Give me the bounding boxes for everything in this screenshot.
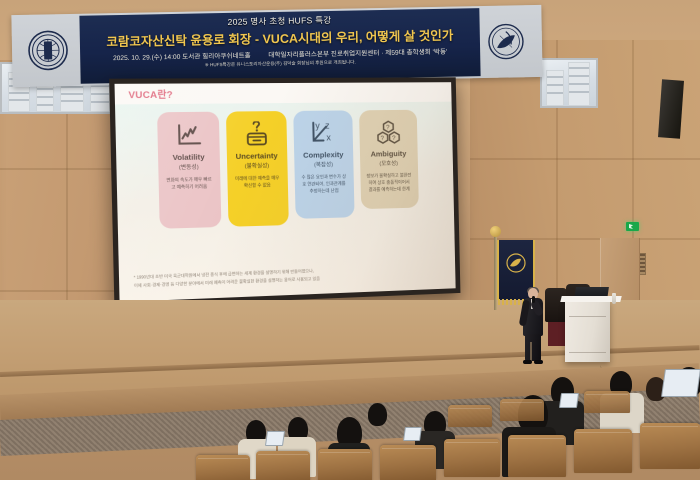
- flag-finial-icon: [490, 226, 501, 237]
- slide-title: VUCA란?: [128, 87, 173, 102]
- banner-line-3-right: 대학일자리플러스본부 진로취업지원센터 · 제59대 총학생회 '박동': [268, 49, 447, 59]
- banner-line-4: ※ HUFS특강은 유니스토리자산운용(주) 김덕술 회장님의 후원으로 개최됩…: [205, 59, 356, 68]
- ceiling-speaker-icon: [658, 79, 684, 138]
- svg-text:?: ?: [392, 135, 396, 142]
- card-title-ko: (변동성): [179, 163, 199, 172]
- audience-laptop: [403, 427, 422, 441]
- uncertainty-box-question-icon: [243, 119, 270, 150]
- audience-seat: [640, 423, 700, 469]
- lectern: [565, 300, 610, 362]
- water-bottle: [612, 293, 616, 304]
- audience-laptop: [559, 393, 579, 408]
- lecture-hall-photo: 2025 명사 초청 HUFS 특강 코람코자산신탁 윤용로 회장 - VUCA…: [0, 0, 700, 480]
- vuca-card-row: Volatility (변동성) 변화의 속도가 매우 빠르고 예측하기 어려움: [128, 110, 445, 230]
- svg-text:x: x: [326, 133, 331, 143]
- student-council-seal-icon: [484, 19, 529, 64]
- card-description: 정보가 불확실하고 불완전하여 상호 충돌적이어서 결과를 예측하는데 한계: [364, 173, 414, 194]
- audience-seat: [380, 445, 436, 480]
- audience-seat: [196, 455, 250, 480]
- audience-seat: [448, 405, 492, 427]
- slide-body: Volatility (변동성) 변화의 속도가 매우 빠르고 예측하기 어려움: [115, 102, 456, 302]
- svg-text:z: z: [325, 121, 330, 131]
- card-title-ko: (복잡성): [314, 161, 333, 169]
- banner-line-1: 2025 명사 초청 HUFS 특강: [227, 14, 331, 28]
- audience-seat: [574, 429, 632, 473]
- audience-seat: [500, 399, 544, 421]
- speaker-person: [520, 288, 546, 364]
- projection-screen: VUCA란? Volatility (변동성) 변화의 속도가 매우 빠르고: [109, 77, 460, 307]
- card-description: 변화의 속도가 매우 빠르고 예측하기 어려움: [162, 177, 216, 192]
- audience-laptop: [661, 369, 700, 397]
- hufs-seal-icon: [26, 28, 71, 73]
- vuca-card-complexity: y z x Complexity (복잡성) 수 많은 요인과 변수가 상호 연…: [293, 110, 354, 218]
- speaker-legs: [525, 334, 541, 361]
- event-banner: 2025 명사 초청 HUFS 특강 코람코자산신탁 윤용로 회장 - VUCA…: [11, 5, 542, 87]
- svg-text:?: ?: [380, 135, 384, 142]
- flag-emblem-icon: [505, 252, 527, 279]
- microphone-icon: [532, 296, 535, 303]
- vuca-card-ambiguity: ? ? ? Ambiguity (모호성) 정보가 불확실하고 불완전하여 상호…: [359, 110, 419, 209]
- audience-seat: [508, 435, 566, 477]
- window-right: [540, 58, 598, 108]
- card-title-en: Uncertainty: [236, 152, 278, 161]
- audience-seat: [318, 449, 372, 480]
- vuca-card-volatility: Volatility (변동성) 변화의 속도가 매우 빠르고 예측하기 어려움: [157, 112, 221, 229]
- card-title-en: Complexity: [303, 151, 343, 160]
- presentation-slide: VUCA란? Volatility (변동성) 변화의 속도가 매우 빠르고: [115, 82, 456, 302]
- card-title-ko: (모호성): [379, 159, 398, 167]
- speaker-shoe-right: [534, 360, 543, 364]
- banner-navy-field: 2025 명사 초청 HUFS 특강 코람코자산신탁 윤용로 회장 - VUCA…: [79, 8, 480, 84]
- card-title-en: Volatility: [172, 153, 204, 162]
- audience-seat: [256, 451, 310, 480]
- stage-chair-1: [545, 288, 567, 322]
- card-description: 미래에 대한 예측을 매우 확신할 수 없음: [231, 175, 284, 189]
- ambiguity-blocks-icon: ? ? ?: [374, 118, 402, 148]
- banner-line-3-left: 2025. 10. 29.(수) 14:00 도서관 힐리아쿠쉬네트홀: [113, 53, 251, 63]
- audience-seat: [444, 439, 500, 477]
- svg-text:?: ?: [386, 124, 390, 131]
- svg-text:y: y: [315, 121, 320, 131]
- audience-head: [368, 403, 387, 426]
- slide-footnote: * 1990년대 초반 미국 육군대학원에서 냉전 종식 후에 급변하는 세계 …: [134, 263, 444, 289]
- emergency-exit-sign-icon: [626, 222, 639, 231]
- audience-seating: [0, 365, 700, 480]
- audience-seat: [584, 391, 630, 413]
- volatility-chart-icon: [174, 120, 201, 151]
- speaker-shoe-left: [523, 360, 532, 364]
- card-title-en: Ambiguity: [371, 150, 407, 159]
- card-description: 수 많은 요인과 변수가 상호 연관되어, 인과관계를 추정하는데 난점: [298, 174, 350, 195]
- card-title-ko: (불확실성): [245, 162, 270, 171]
- audience-laptop: [265, 431, 285, 446]
- vuca-card-uncertainty: Uncertainty (불확실성) 미래에 대한 예측을 매우 확신할 수 없…: [225, 111, 288, 227]
- complexity-axes-icon: y z x: [309, 118, 337, 148]
